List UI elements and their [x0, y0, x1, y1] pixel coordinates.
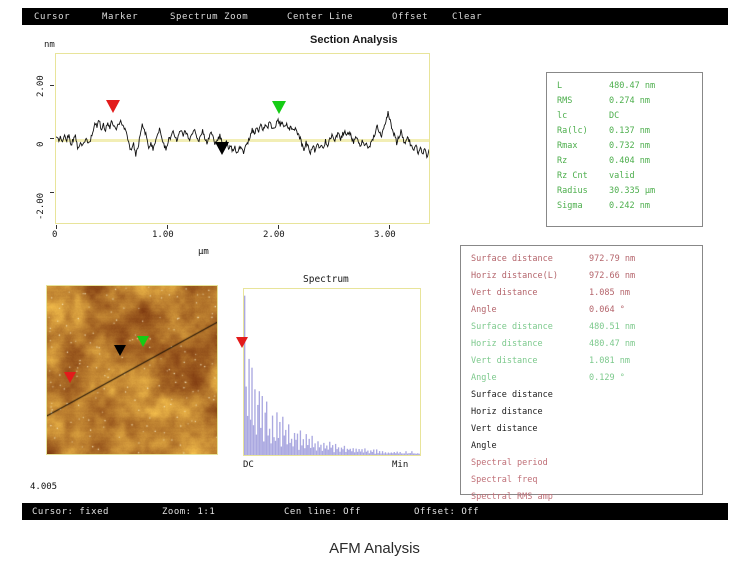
top-menu-bar: Cursor Marker Spectrum Zoom Center Line …: [22, 8, 728, 25]
section-marker-red[interactable]: [106, 100, 120, 113]
measurement-value: [589, 404, 702, 421]
menu-item-clear[interactable]: Clear: [452, 12, 482, 22]
measurement-row: Angle0.129 °: [461, 370, 702, 387]
image-scale-value: 4.005: [30, 482, 57, 492]
bottom-status-bar: Cursor: fixed Zoom: 1:1 Cen line: Off Of…: [22, 503, 728, 520]
stats-value: 0.274 nm: [609, 94, 702, 109]
stats-key: Rz Cnt: [557, 169, 609, 184]
measurement-key: Horiz distance: [471, 404, 589, 421]
stats-key: Sigma: [557, 199, 609, 214]
stats-value: 0.404 nm: [609, 154, 702, 169]
measurement-value: 972.66 nm: [589, 268, 702, 285]
afm-surface-canvas: [47, 286, 217, 454]
stats-row: Rz0.404 nm: [547, 154, 702, 169]
spectrum-bars: [244, 289, 420, 455]
stats-value: 480.47 nm: [609, 79, 702, 94]
stats-value: 0.242 nm: [609, 199, 702, 214]
stats-value: 0.137 nm: [609, 124, 702, 139]
measurement-key: Angle: [471, 302, 589, 319]
measurements-panel: Surface distance972.79 nm Horiz distance…: [460, 245, 703, 495]
measurement-value: 972.79 nm: [589, 251, 702, 268]
measurement-key: Horiz distance: [471, 336, 589, 353]
measurement-value: [589, 455, 702, 472]
measurement-row: Surface distance972.79 nm: [461, 251, 702, 268]
measurement-row: Spectral freq: [461, 472, 702, 489]
x-tick-2: 2.00: [263, 230, 285, 240]
stats-key: Ra(lc): [557, 124, 609, 139]
stats-row: Rmax0.732 nm: [547, 139, 702, 154]
measurement-key: Surface distance: [471, 387, 589, 404]
stats-row: Sigma0.242 nm: [547, 199, 702, 214]
image-marker-green[interactable]: [137, 336, 149, 347]
section-marker-black[interactable]: [215, 142, 229, 155]
status-offset: Offset: Off: [414, 507, 479, 517]
measurement-row: Horiz distance(L)972.66 nm: [461, 268, 702, 285]
measurement-value: [589, 387, 702, 404]
stats-value: DC: [609, 109, 702, 124]
stats-row: L480.47 nm: [547, 79, 702, 94]
figure-caption: AFM Analysis: [0, 540, 749, 557]
spectrum-x-left-label: DC: [243, 460, 254, 470]
status-zoom: Zoom: 1:1: [162, 507, 215, 517]
y-tick-0: 0: [36, 142, 46, 147]
x-tick-mark: [167, 225, 168, 229]
menu-item-center-line[interactable]: Center Line: [287, 12, 353, 22]
measurement-key: Spectral period: [471, 455, 589, 472]
measurement-row: Surface distance480.51 nm: [461, 319, 702, 336]
measurement-row: Surface distance: [461, 387, 702, 404]
stats-key: RMS: [557, 94, 609, 109]
measurement-row: Horiz distance480.47 nm: [461, 336, 702, 353]
stats-value: valid: [609, 169, 702, 184]
measurement-row: Horiz distance: [461, 404, 702, 421]
x-tick-mark: [389, 225, 390, 229]
status-cen-line: Cen line: Off: [284, 507, 361, 517]
measurement-value: 480.47 nm: [589, 336, 702, 353]
measurement-key: Vert distance: [471, 421, 589, 438]
x-tick-mark: [56, 225, 57, 229]
y-tick-mark: [50, 192, 54, 193]
measurement-row: Vert distance1.085 nm: [461, 285, 702, 302]
x-axis-unit-label: µm: [198, 247, 209, 257]
stats-row: RMS0.274 nm: [547, 94, 702, 109]
spectrum-title: Spectrum: [303, 274, 349, 285]
measurement-key: Surface distance: [471, 251, 589, 268]
afm-image-thumbnail[interactable]: [46, 285, 218, 455]
measurement-row: Vert distance1.081 nm: [461, 353, 702, 370]
stats-key: Rmax: [557, 139, 609, 154]
section-analysis-plot[interactable]: [55, 53, 430, 224]
stats-value: 0.732 nm: [609, 139, 702, 154]
measurement-row: Angle0.064 °: [461, 302, 702, 319]
menu-item-cursor[interactable]: Cursor: [34, 12, 70, 22]
measurement-key: Angle: [471, 438, 589, 455]
stats-row: Ra(lc)0.137 nm: [547, 124, 702, 139]
measurement-value: [589, 438, 702, 455]
measurement-key: Horiz distance(L): [471, 268, 589, 285]
x-tick-mark: [278, 225, 279, 229]
stats-key: lc: [557, 109, 609, 124]
y-tick-2: 2.00: [36, 75, 46, 97]
x-tick-0: 0: [52, 230, 57, 240]
x-tick-3: 3.00: [374, 230, 396, 240]
status-cursor: Cursor: fixed: [32, 507, 109, 517]
measurement-row: Spectral period: [461, 455, 702, 472]
stats-key: Radius: [557, 184, 609, 199]
measurement-key: Angle: [471, 370, 589, 387]
measurement-value: 480.51 nm: [589, 319, 702, 336]
measurement-key: Surface distance: [471, 319, 589, 336]
spectrum-x-right-label: Min: [392, 460, 408, 470]
y-tick-neg2: -2.00: [36, 193, 46, 220]
spectrum-plot[interactable]: [243, 288, 421, 456]
measurement-value: 0.064 °: [589, 302, 702, 319]
measurement-key: Vert distance: [471, 285, 589, 302]
measurement-value: 0.129 °: [589, 370, 702, 387]
y-axis-unit-label: nm: [44, 40, 55, 50]
image-marker-red[interactable]: [64, 372, 76, 383]
stats-row: Rz Cntvalid: [547, 169, 702, 184]
measurement-key: Vert distance: [471, 353, 589, 370]
stats-key: L: [557, 79, 609, 94]
roughness-stats-panel: L480.47 nm RMS0.274 nm lcDC Ra(lc)0.137 …: [546, 72, 703, 227]
measurement-row: Angle: [461, 438, 702, 455]
measurement-key: Spectral freq: [471, 472, 589, 489]
y-tick-mark: [50, 138, 54, 139]
stats-row: lcDC: [547, 109, 702, 124]
section-analysis-title: Section Analysis: [310, 34, 398, 46]
spectrum-marker-red[interactable]: [236, 337, 248, 348]
section-marker-green[interactable]: [272, 101, 286, 114]
measurement-value: 1.081 nm: [589, 353, 702, 370]
stats-row: Radius30.335 µm: [547, 184, 702, 199]
measurement-value: [589, 421, 702, 438]
stats-value: 30.335 µm: [609, 184, 702, 199]
image-marker-black[interactable]: [114, 345, 126, 356]
menu-item-spectrum-zoom[interactable]: Spectrum Zoom: [170, 12, 248, 22]
menu-item-marker[interactable]: Marker: [102, 12, 138, 22]
measurement-row: Vert distance: [461, 421, 702, 438]
y-tick-mark: [50, 85, 54, 86]
height-profile-trace: [56, 54, 429, 223]
measurement-value: 1.085 nm: [589, 285, 702, 302]
x-tick-1: 1.00: [152, 230, 174, 240]
menu-item-offset[interactable]: Offset: [392, 12, 428, 22]
measurement-value: [589, 472, 702, 489]
stats-key: Rz: [557, 154, 609, 169]
